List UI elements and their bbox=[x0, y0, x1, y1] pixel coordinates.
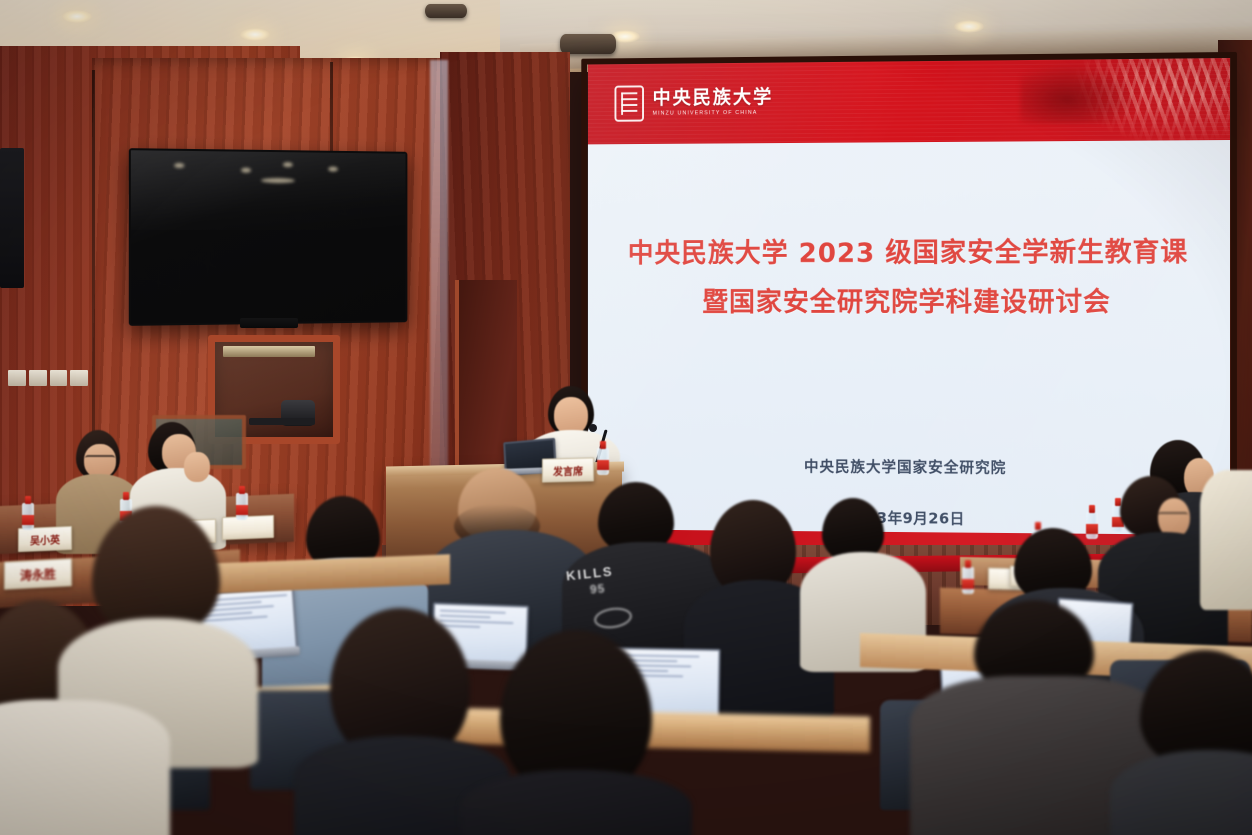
wall-outlet-panel bbox=[8, 370, 88, 386]
nameplate-panel-left-3 bbox=[222, 515, 274, 540]
slide-organization: 中央民族大学国家安全研究院 bbox=[588, 454, 1230, 479]
attendee-body bbox=[460, 770, 692, 835]
panel-member-2-hand bbox=[184, 452, 210, 482]
hoodie-graphic-sub: 95 bbox=[589, 581, 606, 596]
microphone-head-icon bbox=[589, 424, 597, 432]
glasses-icon bbox=[1158, 512, 1188, 520]
outlet-icon bbox=[50, 370, 68, 386]
outlet-icon bbox=[70, 370, 88, 386]
tv-reflection bbox=[241, 168, 251, 173]
ceiling-speaker-icon bbox=[425, 4, 467, 18]
nameplate-panel-left-4: 涛永胜 bbox=[4, 558, 72, 590]
university-name-cn: 中央民族大学 bbox=[653, 88, 774, 108]
downlight-icon bbox=[240, 28, 270, 41]
attendee-body bbox=[0, 700, 170, 835]
slide-title-line2: 暨国家安全研究院学科建设研讨会 bbox=[588, 278, 1230, 328]
tv-reflection bbox=[283, 162, 293, 167]
water-bottle bbox=[1086, 505, 1098, 539]
tv-reflection bbox=[328, 167, 338, 172]
water-bottle bbox=[236, 486, 248, 520]
tv-stand bbox=[240, 318, 298, 328]
tv-glare bbox=[131, 150, 406, 230]
nameplate-text: 吴小英 bbox=[30, 531, 60, 547]
slide-title-line1: 中央民族大学 2023 级国家安全学新生教育课 bbox=[628, 237, 1188, 269]
nameplate-podium: 发言席 bbox=[542, 457, 594, 482]
water-bottle bbox=[962, 560, 974, 594]
laptop-content bbox=[439, 610, 522, 630]
slide-body: 中央民族大学 2023 级国家安全学新生教育课 暨国家安全研究院学科建设研讨会 … bbox=[588, 140, 1230, 535]
nameplate-text: 涛永胜 bbox=[20, 565, 56, 584]
chinese-roof-motif-shadow bbox=[1020, 63, 1138, 124]
downlight-icon bbox=[62, 10, 92, 23]
water-bottle bbox=[22, 496, 34, 530]
university-logo-text: 中央民族大学 MINZU UNIVERSITY OF CHINA bbox=[653, 88, 774, 117]
water-bottle bbox=[597, 441, 609, 475]
outlet-icon bbox=[29, 370, 47, 386]
downlight-icon bbox=[954, 20, 984, 33]
tv-reflection bbox=[174, 163, 184, 168]
university-seal-icon bbox=[614, 85, 643, 121]
university-logo: 中央民族大学 MINZU UNIVERSITY OF CHINA bbox=[614, 84, 773, 122]
slide-header-banner: 中央民族大学 MINZU UNIVERSITY OF CHINA bbox=[588, 58, 1230, 144]
outlet-icon bbox=[8, 370, 26, 386]
wall-mounted-tv[interactable] bbox=[129, 148, 408, 326]
camera-icon bbox=[281, 400, 315, 426]
nameplate-text: 发言席 bbox=[553, 462, 583, 478]
ceiling-speaker-icon bbox=[560, 34, 616, 54]
university-name-en: MINZU UNIVERSITY OF CHINA bbox=[653, 111, 774, 117]
control-window-light bbox=[223, 346, 315, 357]
wall-panel-dark bbox=[0, 148, 24, 288]
conference-photo: 中央民族大学 MINZU UNIVERSITY OF CHINA 中央民族大学 … bbox=[0, 0, 1252, 835]
attendee-body bbox=[1200, 470, 1252, 610]
slide-title: 中央民族大学 2023 级国家安全学新生教育课 暨国家安全研究院学科建设研讨会 bbox=[588, 228, 1230, 328]
glasses-icon bbox=[85, 455, 115, 463]
